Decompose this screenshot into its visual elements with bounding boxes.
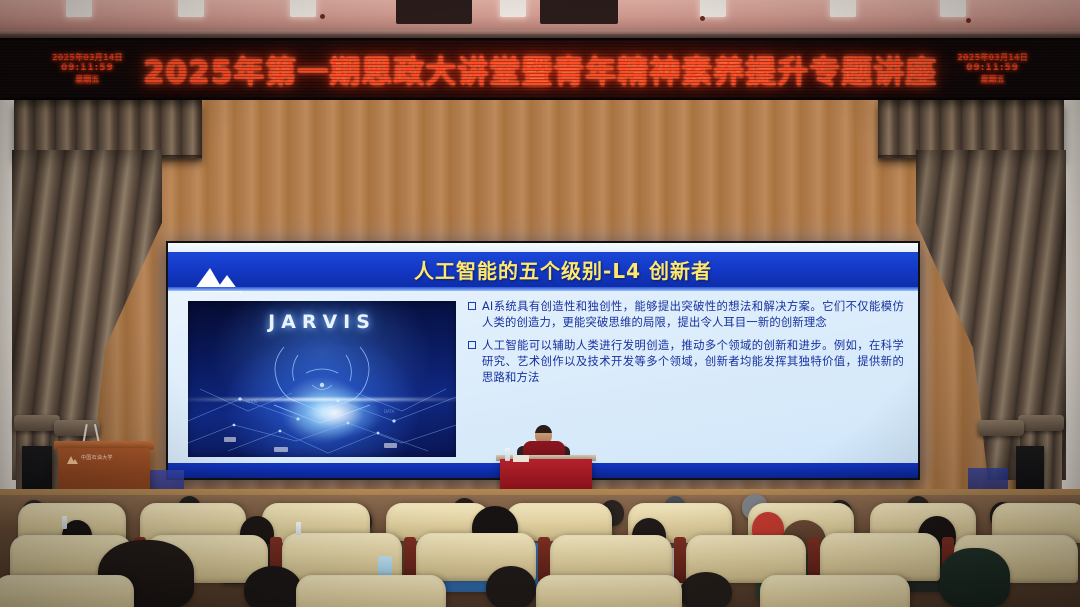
slide-bullet-text: AI系统具有创造性和独创性，能够提出突破性的想法和解决方案。它们不仅能模仿人类的… [482, 299, 904, 331]
led-clock-right: 2025年03月14日 09:11:59 星期五 [957, 53, 1028, 85]
auditorium-seat[interactable] [0, 575, 134, 607]
svg-text:DATA: DATA [384, 409, 395, 414]
audience-head [940, 548, 1010, 607]
curtain-valance-right [878, 100, 1064, 158]
led-clock-right-date: 2025年03月14日 [957, 53, 1028, 63]
led-clock-left-time: 09:11:59 [52, 63, 123, 75]
slide-bullet-list: AI系统具有创造性和独创性，能够提出突破性的想法和解决方案。它们不仅能模仿人类的… [468, 299, 904, 452]
image-light-burst [290, 388, 380, 438]
slide-top-strip [168, 243, 918, 252]
led-clock-left: 2025年03月14日 09:11:59 星期五 [52, 53, 123, 85]
curtain-tieback-right-outer [1018, 415, 1064, 431]
led-clock-left-date: 2025年03月14日 [52, 53, 123, 63]
desk-water-bottle [505, 448, 510, 461]
led-clock-left-weekday: 星期五 [52, 75, 123, 85]
water-bottle [62, 516, 67, 529]
auditorium-seat[interactable] [536, 575, 682, 607]
auditorium-scene: 2025年03月14日 09:11:59 星期五 2025年第一期思政大讲堂暨青… [0, 0, 1080, 607]
mountain-logo-icon [190, 264, 248, 292]
led-clock-right-time: 09:11:59 [957, 63, 1028, 75]
audience-head [244, 566, 302, 607]
desk-papers [513, 455, 529, 462]
audience-head [486, 566, 536, 607]
water-bottle [296, 522, 301, 535]
podium-nameplate: 中国石油大学 [66, 451, 142, 464]
jarvis-label: JARVIS [188, 311, 456, 333]
podium-label: 中国石油大学 [81, 454, 113, 461]
seat-armrest [674, 537, 686, 583]
bullet-square-icon [468, 302, 476, 310]
curtain-valance-left [14, 100, 202, 158]
slide-bullet-item: 人工智能可以辅助人类进行发明创造，推动多个领域的创新和进步。例如，在科学研究、艺… [468, 338, 904, 386]
audience-head [680, 572, 732, 607]
slide-bullet-item: AI系统具有创造性和独创性，能够提出突破性的想法和解决方案。它们不仅能模仿人类的… [468, 299, 904, 331]
led-banner: 2025年03月14日 09:11:59 星期五 2025年第一期思政大讲堂暨青… [0, 38, 1080, 100]
slide-bullet-text: 人工智能可以辅助人类进行发明创造，推动多个领域的创新和进步。例如，在科学研究、艺… [482, 338, 904, 386]
auditorium-seat[interactable] [820, 533, 940, 581]
image-horizon-glow [188, 398, 456, 401]
ceiling [0, 0, 1080, 34]
bullet-square-icon [468, 341, 476, 349]
slide-title: 人工智能的五个级别-L4 创新者 [168, 255, 918, 284]
slide-title-bar: 人工智能的五个级别-L4 创新者 [168, 252, 918, 287]
curtain-tieback-right-inner [978, 420, 1024, 436]
led-banner-title: 2025年第一期思政大讲堂暨青年精神素养提升专题讲座 [130, 47, 950, 92]
podium-emblem-icon [66, 452, 78, 463]
auditorium-seat[interactable] [760, 575, 910, 607]
led-clock-right-weekday: 星期五 [957, 75, 1028, 85]
curtain-tieback-left-inner [54, 420, 100, 436]
slide-image-jarvis: NODE LINK DATA JARVIS [188, 301, 456, 457]
auditorium-seat[interactable] [296, 575, 446, 607]
